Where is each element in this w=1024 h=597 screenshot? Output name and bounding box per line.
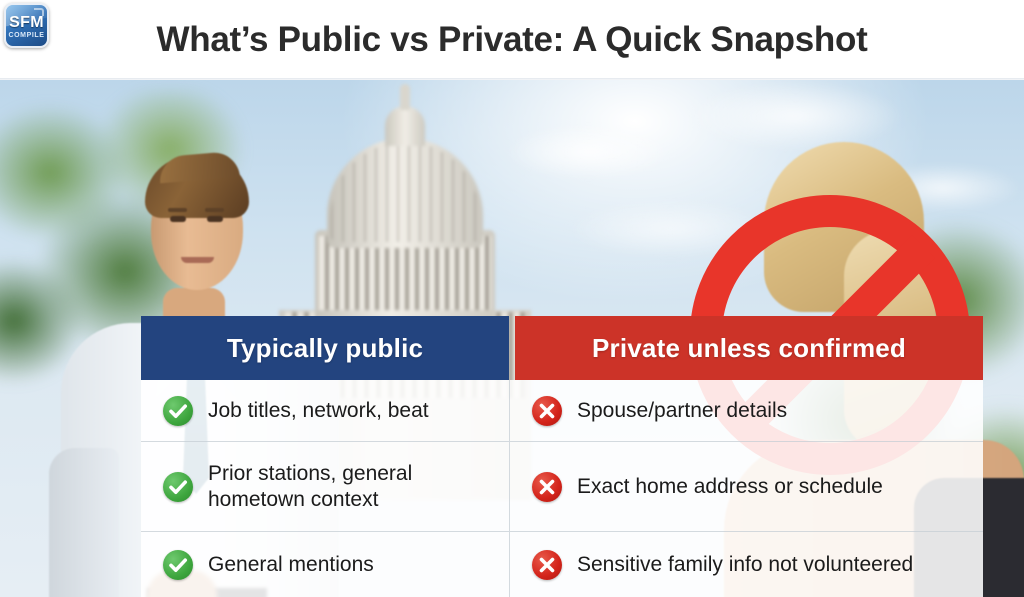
table-cell-private-text: Sensitive family info not volunteered bbox=[577, 552, 913, 578]
table-row: Prior stations, general hometown context… bbox=[141, 442, 983, 532]
table-header-row: Typically public Private unless confirme… bbox=[141, 316, 983, 380]
capitol-statue-of-freedom bbox=[400, 84, 410, 110]
column-header-public-label: Typically public bbox=[227, 333, 423, 364]
anchorman-brow-right bbox=[205, 208, 224, 212]
logo-subtitle-text: COMPILE bbox=[6, 32, 47, 39]
page-title: What’s Public vs Private: A Quick Snapsh… bbox=[157, 20, 868, 60]
title-bar: What’s Public vs Private: A Quick Snapsh… bbox=[0, 0, 1024, 80]
column-header-public: Typically public bbox=[141, 316, 509, 380]
anchorman-mouth bbox=[181, 257, 214, 263]
table-cell-private: Spouse/partner details bbox=[510, 380, 983, 441]
table-cell-private: Exact home address or schedule bbox=[510, 442, 983, 531]
table-cell-public: General mentions bbox=[141, 532, 510, 597]
table-cell-public: Prior stations, general hometown context bbox=[141, 442, 510, 531]
anchorman-eye-right bbox=[207, 216, 223, 222]
check-circle-icon bbox=[163, 472, 193, 502]
comparison-table: Typically public Private unless confirme… bbox=[141, 316, 983, 597]
cross-circle-icon bbox=[532, 550, 562, 580]
table-cell-private: Sensitive family info not volunteered bbox=[510, 532, 983, 597]
slide-root: What’s Public vs Private: A Quick Snapsh… bbox=[0, 0, 1024, 597]
anchorman-arm bbox=[49, 448, 119, 597]
column-header-private: Private unless confirmed bbox=[515, 316, 983, 380]
anchorman-brow-left bbox=[168, 208, 187, 212]
capitol-lantern bbox=[385, 106, 425, 146]
table-body: Job titles, network, beat Spouse/partner… bbox=[141, 380, 983, 597]
anchorman-eye-left bbox=[170, 216, 186, 222]
cross-circle-icon bbox=[532, 472, 562, 502]
check-circle-icon bbox=[163, 550, 193, 580]
table-cell-private-text: Exact home address or schedule bbox=[577, 474, 883, 500]
column-header-private-label: Private unless confirmed bbox=[592, 333, 906, 364]
logo-brand-text: SFM bbox=[6, 14, 47, 32]
table-cell-public: Job titles, network, beat bbox=[141, 380, 510, 441]
table-cell-public-text: Prior stations, general hometown context bbox=[208, 461, 495, 512]
table-row: General mentions Sensitive family info n… bbox=[141, 532, 983, 597]
table-cell-public-text: Job titles, network, beat bbox=[208, 398, 429, 424]
table-cell-public-text: General mentions bbox=[208, 552, 374, 578]
sfm-compile-logo: SFM COMPILE bbox=[4, 3, 49, 48]
table-cell-private-text: Spouse/partner details bbox=[577, 398, 787, 424]
cross-circle-icon bbox=[532, 396, 562, 426]
check-circle-icon bbox=[163, 396, 193, 426]
table-row: Job titles, network, beat Spouse/partner… bbox=[141, 380, 983, 442]
